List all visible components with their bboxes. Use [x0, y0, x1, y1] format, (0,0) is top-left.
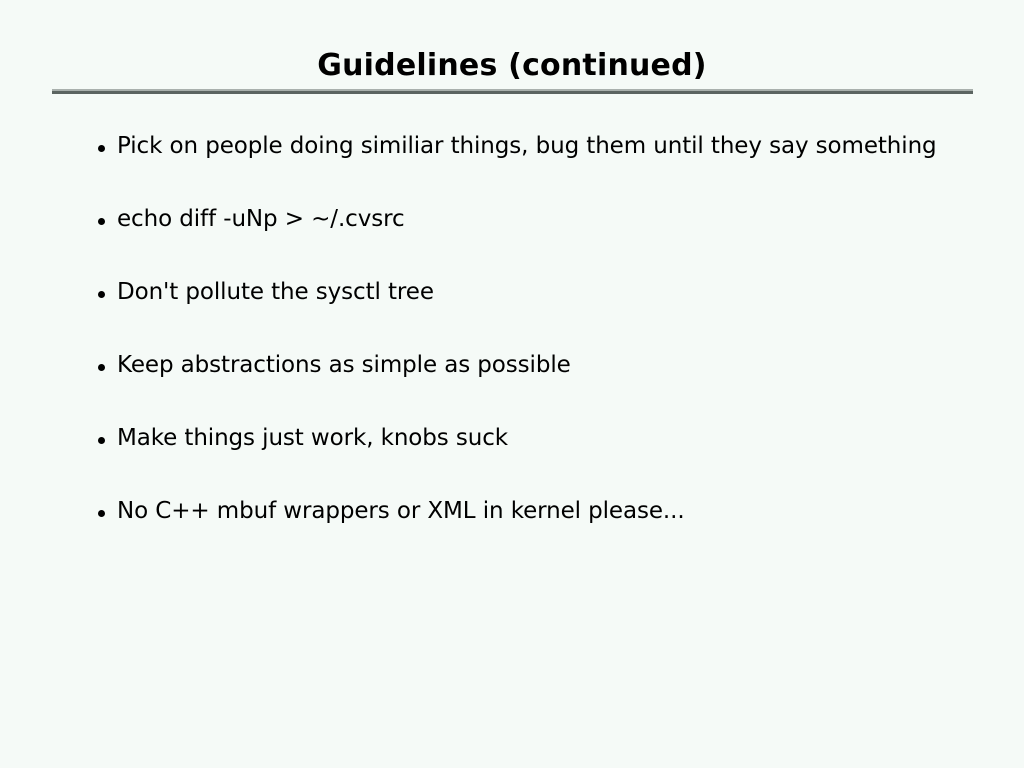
list-item-label: No C++ mbuf wrappers or XML in kernel pl…	[117, 495, 996, 527]
list-item: No C++ mbuf wrappers or XML in kernel pl…	[96, 495, 996, 568]
bullet-list: Pick on people doing similiar things, bu…	[96, 130, 996, 568]
presentation-slide: Guidelines (continued) Pick on people do…	[0, 0, 1024, 768]
list-item-label: Keep abstractions as simple as possible	[117, 349, 996, 381]
list-item: echo diff -uNp > ~/.cvsrc	[96, 203, 996, 276]
title-divider	[52, 89, 973, 95]
list-item: Make things just work, knobs suck	[96, 422, 996, 495]
bullet-point-icon	[98, 510, 105, 517]
page-title: Guidelines (continued)	[0, 47, 1024, 85]
bullet-point-icon	[98, 145, 105, 152]
bullet-point-icon	[98, 364, 105, 371]
divider-shadow	[52, 91, 973, 94]
bullet-point-icon	[98, 218, 105, 225]
list-item-label: Make things just work, knobs suck	[117, 422, 996, 454]
bullet-point-icon	[98, 437, 105, 444]
bullet-point-icon	[98, 291, 105, 298]
list-item-label: Don't pollute the sysctl tree	[117, 276, 996, 308]
list-item: Pick on people doing similiar things, bu…	[96, 130, 996, 203]
list-item-label: echo diff -uNp > ~/.cvsrc	[117, 203, 996, 235]
list-item-label: Pick on people doing similiar things, bu…	[117, 130, 996, 162]
list-item: Don't pollute the sysctl tree	[96, 276, 996, 349]
list-item: Keep abstractions as simple as possible	[96, 349, 996, 422]
